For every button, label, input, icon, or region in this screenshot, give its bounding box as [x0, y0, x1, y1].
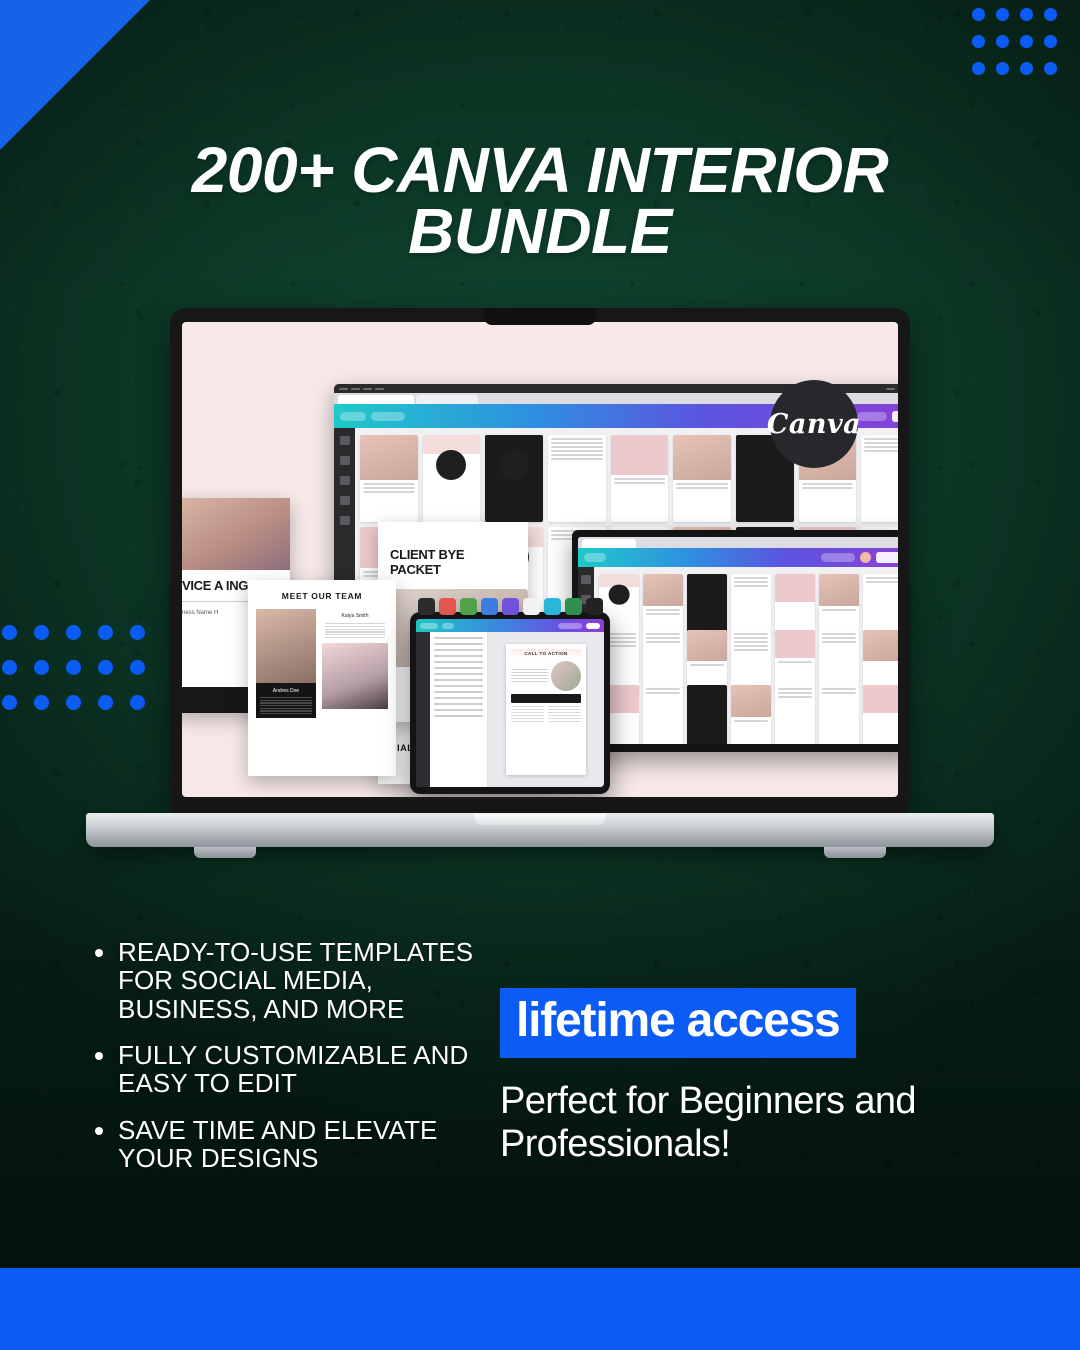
dot	[1020, 62, 1033, 75]
template-card	[611, 435, 669, 522]
template-card	[731, 630, 771, 691]
app-icon-dock	[418, 598, 603, 615]
team-photo	[256, 609, 316, 683]
page-title: 200+ CANVA INTERIOR BUNDLE	[0, 140, 1080, 262]
promo-subtitle: Perfect for Beginners and Professionals!	[500, 1080, 930, 1165]
dot-grid-top-right	[972, 8, 1068, 89]
template-card	[775, 630, 815, 691]
share-button	[892, 411, 898, 422]
browser-tabbar	[578, 537, 898, 548]
toolbar-button	[857, 412, 887, 421]
rail-icon-design	[340, 436, 350, 445]
template-card	[485, 435, 543, 522]
template-card	[423, 435, 481, 522]
flyer-heading: CLIENT BYE PACKET	[390, 548, 516, 577]
rail-icon-elements	[340, 456, 350, 465]
team-bio	[256, 697, 316, 718]
template-card	[819, 685, 859, 744]
feature-item: SAVE TIME AND ELEVATE YOUR DESIGNS	[88, 1116, 488, 1173]
template-card	[819, 574, 859, 635]
dot	[1044, 8, 1057, 21]
bottom-accent-bar	[0, 1268, 1080, 1350]
flyer-body: CLIENT BYE PACKET	[378, 522, 528, 577]
toolbar-button	[371, 412, 405, 421]
feature-item: READY-TO-USE TEMPLATES FOR SOCIAL MEDIA,…	[88, 938, 488, 1023]
canva-workspace-secondary	[572, 530, 898, 752]
toolbar-button	[442, 623, 454, 629]
template-card	[687, 685, 727, 744]
dot	[66, 660, 81, 675]
menubar-item	[375, 388, 384, 390]
tablet-canvas: CALL TO ACTION	[488, 632, 604, 787]
menubar-item	[363, 388, 372, 390]
team-card-dark: Andres Doe	[256, 609, 316, 718]
flyer-heading: MEET OUR TEAM	[248, 580, 396, 609]
canva-logo-text: Canva	[767, 409, 861, 440]
app-icon-blue	[481, 598, 498, 615]
browser-tab	[582, 539, 636, 548]
canva-toolbar	[416, 619, 604, 632]
app-icon-green	[460, 598, 477, 615]
template-card	[861, 435, 898, 522]
tablet-body: CALL TO ACTION	[416, 632, 604, 787]
toolbar-button	[584, 553, 606, 562]
app-icon-white	[523, 598, 540, 615]
toolbar-label	[821, 553, 855, 562]
rail-icon-design	[581, 575, 591, 584]
dot	[996, 8, 1009, 21]
toolbar-label	[558, 623, 582, 629]
layers-panel	[430, 632, 488, 787]
laptop-base-notch	[474, 814, 606, 825]
template-card	[731, 685, 771, 744]
team-member-name: Katya Smith	[322, 609, 388, 623]
laptop-lid: Canva	[170, 308, 910, 813]
toolbar-button	[420, 623, 438, 629]
feature-item: FULLY CUSTOMIZABLE AND EASY TO EDIT	[88, 1041, 488, 1098]
team-bio	[322, 623, 388, 643]
secondary-screen	[578, 537, 898, 744]
feature-list: READY-TO-USE TEMPLATES FOR SOCIAL MEDIA,…	[88, 938, 488, 1190]
dot	[66, 625, 81, 640]
app-icon-purple	[502, 598, 519, 615]
template-card	[673, 435, 731, 522]
browser-tab	[416, 395, 478, 404]
team-member-name: Andres Doe	[256, 683, 316, 697]
dot	[34, 625, 49, 640]
dot	[66, 695, 81, 710]
dot	[2, 625, 17, 640]
app-icon-dark	[586, 598, 603, 615]
template-card	[819, 630, 859, 691]
laptop-foot-left	[194, 847, 256, 858]
dot	[1044, 62, 1057, 75]
lifetime-access-label: lifetime access	[516, 994, 840, 1047]
menubar-item	[339, 388, 348, 390]
template-card	[643, 574, 683, 635]
lifetime-access-badge: lifetime access	[500, 988, 856, 1058]
poster-canvas: 200+ CANVA INTERIOR BUNDLE Canva	[0, 0, 1080, 1350]
canva-toolbar	[578, 548, 898, 567]
document-columns	[511, 706, 581, 771]
template-card	[863, 685, 898, 744]
template-card	[731, 574, 771, 635]
dot	[996, 35, 1009, 48]
template-card	[643, 630, 683, 691]
rail-icon-more	[340, 516, 350, 525]
document-cta-button	[511, 694, 581, 703]
template-card	[548, 435, 606, 522]
share-button	[586, 623, 600, 629]
document-image-row	[511, 661, 581, 691]
flyer-meet-our-team: MEET OUR TEAM Andres Doe Katya Smith	[248, 580, 396, 776]
template-card	[775, 574, 815, 635]
toolbar-button	[340, 412, 366, 421]
dot	[2, 660, 17, 675]
template-card	[863, 574, 898, 635]
dot	[1044, 35, 1057, 48]
app-icon-finder	[418, 598, 435, 615]
dot	[972, 8, 985, 21]
team-photo	[322, 643, 388, 709]
laptop-mockup: Canva	[86, 308, 994, 860]
dot	[34, 695, 49, 710]
team-card-light: Katya Smith	[322, 609, 388, 718]
dot	[2, 695, 17, 710]
laptop-notch	[484, 308, 596, 325]
template-card	[360, 435, 418, 522]
share-button	[876, 552, 898, 563]
template-grid	[594, 567, 898, 744]
rail-icon-uploads	[340, 496, 350, 505]
flyer-photo	[182, 498, 290, 570]
template-card	[863, 630, 898, 691]
document-image	[551, 661, 581, 691]
laptop-foot-right	[824, 847, 886, 858]
laptop-base	[86, 813, 994, 847]
menubar-item	[351, 388, 360, 390]
browser-tab	[338, 395, 414, 404]
laptop-screen: Canva	[182, 322, 898, 797]
tablet-mockup: CALL TO ACTION	[410, 612, 610, 794]
app-icon-green2	[565, 598, 582, 615]
template-card	[643, 685, 683, 744]
dot	[972, 35, 985, 48]
rail-icon-text	[340, 476, 350, 485]
dot	[1020, 8, 1033, 21]
dot	[972, 62, 985, 75]
document-preview: CALL TO ACTION	[506, 644, 586, 776]
title-line-2: BUNDLE	[408, 195, 672, 267]
dot	[996, 62, 1009, 75]
promo-block: lifetime access Perfect for Beginners an…	[500, 988, 930, 1165]
canva-body	[578, 567, 898, 744]
dot	[34, 660, 49, 675]
template-card	[775, 685, 815, 744]
template-card	[687, 574, 727, 635]
canva-sidebar-rail	[416, 632, 430, 787]
app-icon-cyan	[544, 598, 561, 615]
avatar	[860, 552, 871, 563]
template-card	[687, 630, 727, 691]
dot	[1020, 35, 1033, 48]
tablet-screen: CALL TO ACTION	[416, 619, 604, 787]
document-text	[511, 669, 548, 683]
corner-triangle-decoration	[0, 0, 150, 150]
menubar-status-item	[886, 388, 895, 390]
canva-logo: Canva	[770, 380, 858, 468]
team-cards: Andres Doe Katya Smith	[248, 609, 396, 718]
document-heading: CALL TO ACTION	[511, 649, 581, 658]
app-icon-red	[439, 598, 456, 615]
